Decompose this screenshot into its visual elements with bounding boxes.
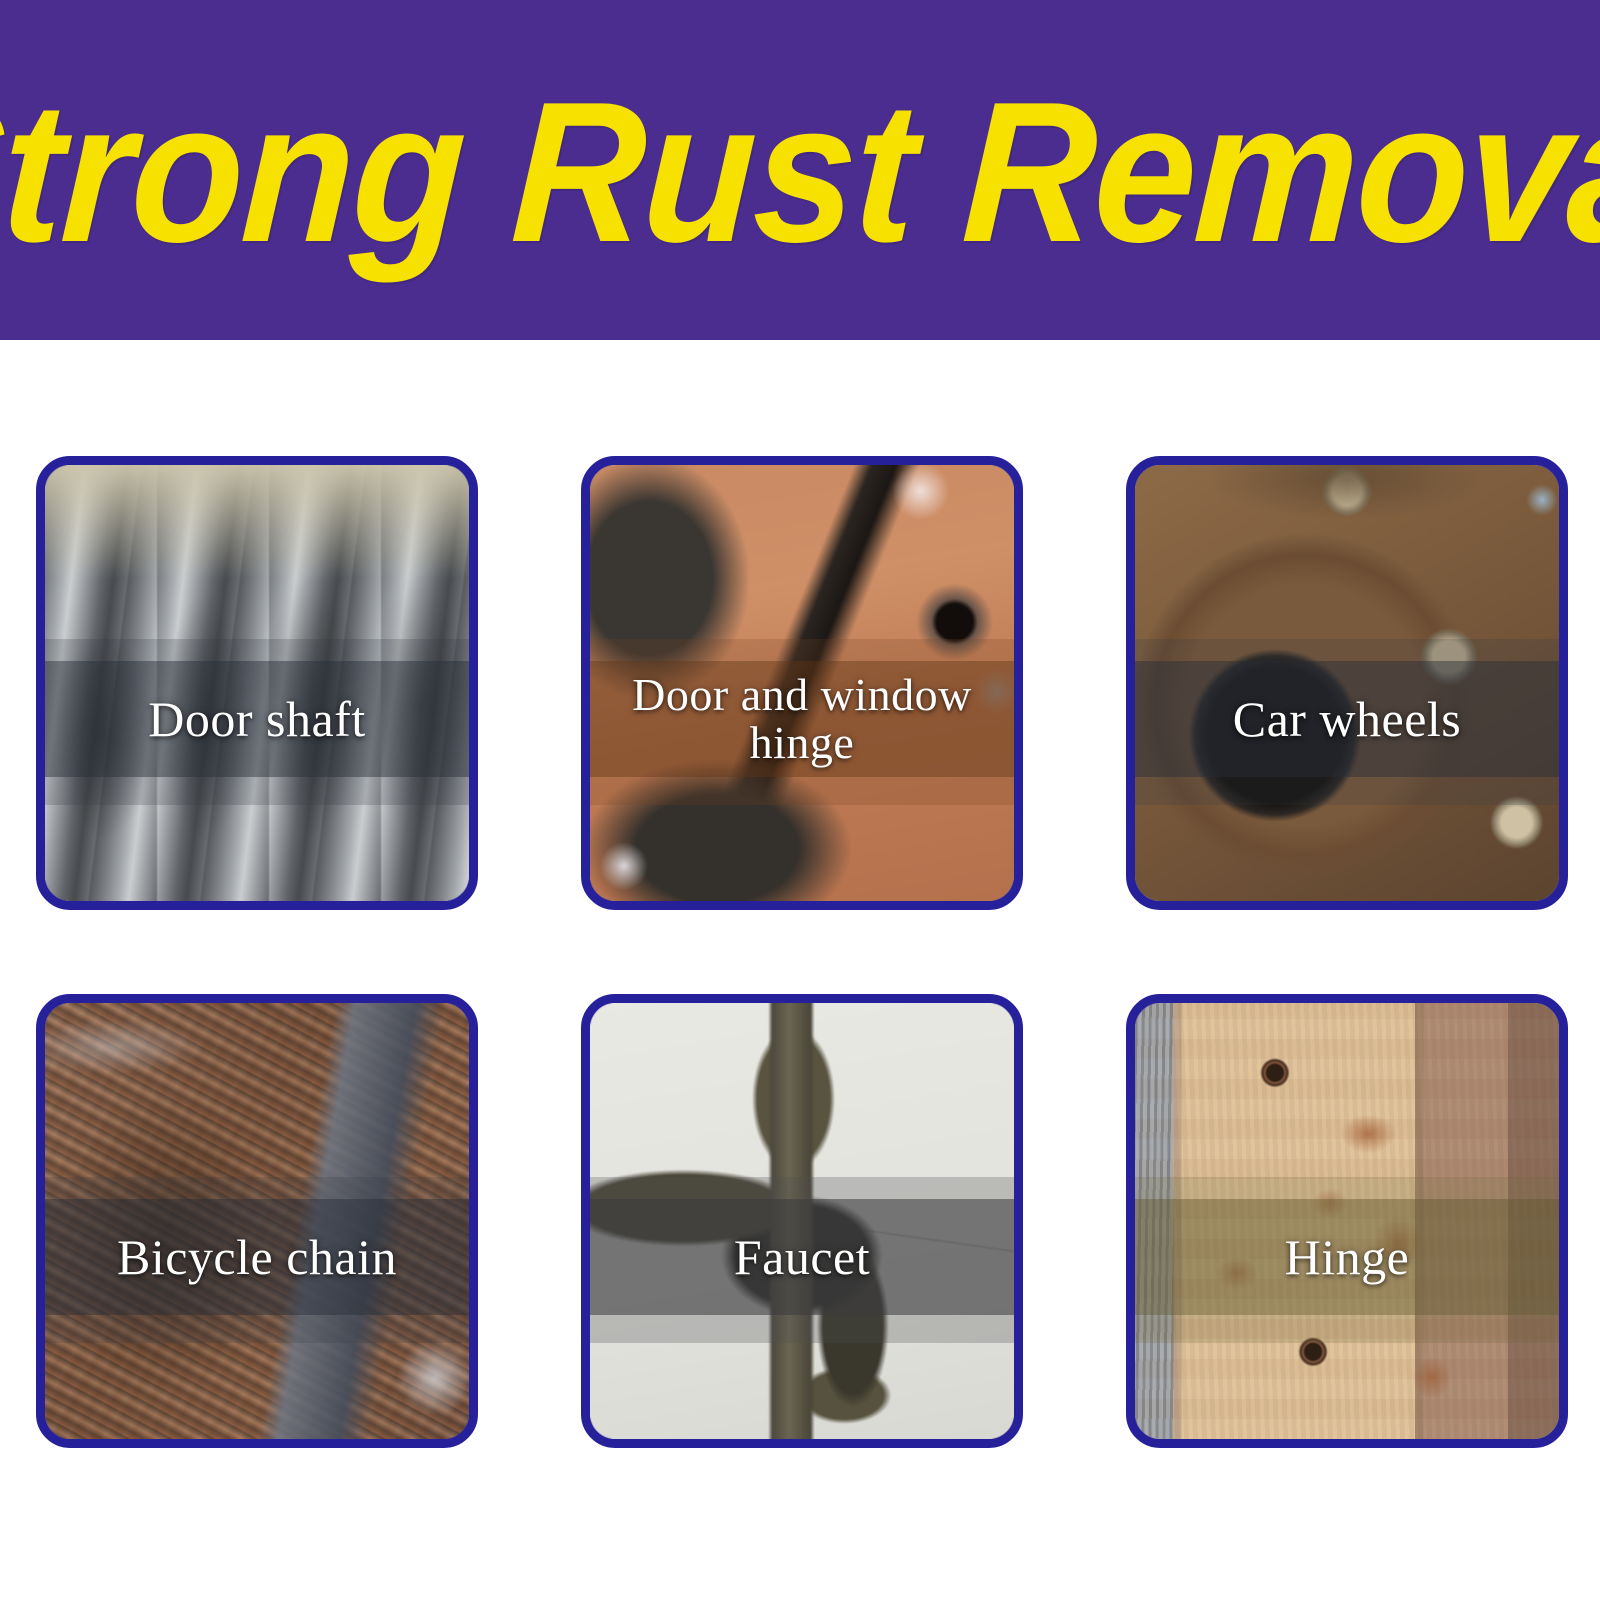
tile-bicycle-chain[interactable]: Bicycle chain — [36, 994, 478, 1448]
page-title: Strong Rust Removal — [0, 73, 1600, 273]
feature-tile-grid: Door shaft Door and window hinge Car whe… — [36, 456, 1568, 1448]
tile-hinge[interactable]: Hinge — [1126, 994, 1568, 1448]
tile-faucet[interactable]: Faucet — [581, 994, 1023, 1448]
tile-caption-hinge: Hinge — [1135, 1199, 1559, 1315]
tile-door-window-hinge[interactable]: Door and window hinge — [581, 456, 1023, 910]
tile-car-wheels[interactable]: Car wheels — [1126, 456, 1568, 910]
tile-caption-bicycle-chain: Bicycle chain — [45, 1199, 469, 1315]
header-banner: Strong Rust Removal — [0, 0, 1600, 340]
poster-root: Strong Rust Removal Door shaft Door and … — [0, 0, 1600, 1600]
tile-caption-faucet: Faucet — [590, 1199, 1014, 1315]
tile-door-shaft[interactable]: Door shaft — [36, 456, 478, 910]
tile-caption-car-wheels: Car wheels — [1135, 661, 1559, 777]
tile-caption-door-shaft: Door shaft — [45, 661, 469, 777]
tile-caption-door-window-hinge: Door and window hinge — [590, 661, 1014, 777]
